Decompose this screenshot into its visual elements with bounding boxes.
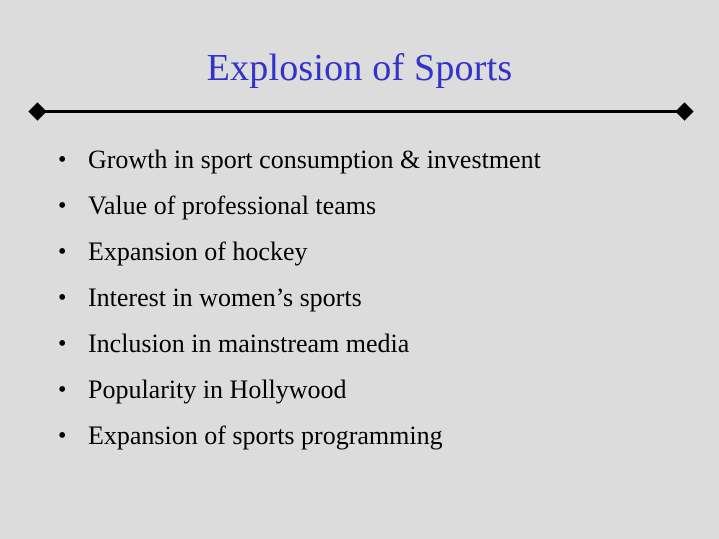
list-item: • Interest in women’s sports	[0, 275, 719, 321]
bullet-point-icon: •	[58, 137, 70, 183]
title-divider	[30, 103, 692, 120]
list-item: • Expansion of sports programming	[0, 413, 719, 459]
presentation-slide: Explosion of Sports • Growth in sport co…	[0, 0, 719, 539]
diamond-endpoint-right-icon	[675, 102, 693, 120]
list-item-label: Value of professional teams	[88, 191, 376, 220]
list-item-label: Growth in sport consumption & investment	[88, 145, 541, 174]
list-item-label: Inclusion in mainstream media	[88, 329, 409, 358]
bullet-list: • Growth in sport consumption & investme…	[0, 137, 719, 459]
bullet-point-icon: •	[58, 321, 70, 367]
list-item: • Value of professional teams	[0, 183, 719, 229]
list-item-label: Expansion of hockey	[88, 237, 308, 266]
list-item-label: Popularity in Hollywood	[88, 375, 347, 404]
bullet-point-icon: •	[58, 229, 70, 275]
list-item: • Expansion of hockey	[0, 229, 719, 275]
bullet-point-icon: •	[58, 275, 70, 321]
list-item: • Inclusion in mainstream media	[0, 321, 719, 367]
bullet-point-icon: •	[58, 183, 70, 229]
list-item: • Growth in sport consumption & investme…	[0, 137, 719, 183]
list-item-label: Expansion of sports programming	[88, 421, 443, 450]
list-item-label: Interest in women’s sports	[88, 283, 362, 312]
slide-title: Explosion of Sports	[0, 46, 719, 90]
list-item: • Popularity in Hollywood	[0, 367, 719, 413]
bullet-point-icon: •	[58, 413, 70, 459]
divider-line	[38, 110, 684, 113]
bullet-point-icon: •	[58, 367, 70, 413]
